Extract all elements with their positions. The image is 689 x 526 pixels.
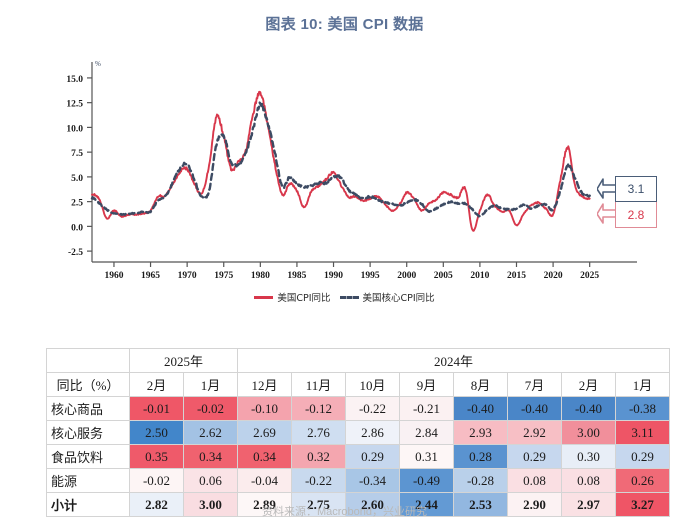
svg-text:1995: 1995 [361, 271, 380, 281]
svg-text:10.0: 10.0 [66, 124, 83, 134]
table-cell: 2.86 [346, 421, 400, 445]
table-cell: 0.34 [238, 445, 292, 469]
table-cell: -0.38 [616, 397, 670, 421]
table-cell: 3.00 [562, 421, 616, 445]
legend-line-dashed-icon [340, 296, 359, 299]
table-year-group-1: 2024年 [238, 349, 670, 373]
table-cell: 3.11 [616, 421, 670, 445]
table-cell: 2.93 [454, 421, 508, 445]
svg-text:1965: 1965 [141, 271, 160, 281]
svg-text:2020: 2020 [544, 271, 563, 281]
table-cell: 0.29 [616, 445, 670, 469]
table-head: 2025年2024年 同比（%） 2月1月12月11月10月9月8月7月2月1月 [47, 349, 670, 397]
chart-plot-area: %-2.50.02.55.07.510.012.515.019601965197… [0, 52, 689, 322]
svg-text:0.0: 0.0 [71, 223, 83, 233]
callout-tails-icon [597, 176, 617, 228]
table-corner-blank [47, 349, 130, 373]
svg-text:1980: 1980 [251, 271, 270, 281]
svg-text:1960: 1960 [104, 271, 123, 281]
svg-text:%: % [95, 60, 101, 68]
table-cell: -0.02 [130, 469, 184, 493]
svg-text:2010: 2010 [470, 271, 489, 281]
svg-text:1990: 1990 [324, 271, 343, 281]
table-cell: -0.49 [400, 469, 454, 493]
table-row-label: 核心商品 [47, 397, 130, 421]
table-cell: 2.62 [184, 421, 238, 445]
table-cell: 0.31 [400, 445, 454, 469]
svg-text:15.0: 15.0 [66, 75, 83, 85]
table-cell: 0.35 [130, 445, 184, 469]
table-year-header-row: 2025年2024年 [47, 349, 670, 373]
chart-callouts: 3.1 2.8 [597, 176, 657, 228]
table-month-header-row: 同比（%） 2月1月12月11月10月9月8月7月2月1月 [47, 373, 670, 397]
table-cell: 2.76 [292, 421, 346, 445]
table-corner-label: 同比（%） [47, 373, 130, 397]
table-cell: 0.26 [616, 469, 670, 493]
table-cell: 0.30 [562, 445, 616, 469]
legend-item-cpi: 美国CPI同比 [254, 290, 330, 304]
table-cell: -0.28 [454, 469, 508, 493]
table-cell: -0.02 [184, 397, 238, 421]
table-cell: -0.21 [400, 397, 454, 421]
callout-headline-cpi: 2.8 [615, 202, 657, 228]
table-month-header-0: 2月 [130, 373, 184, 397]
svg-text:7.5: 7.5 [71, 149, 83, 159]
page-title: 图表 10: 美国 CPI 数据 [0, 13, 689, 34]
legend-label-core-cpi: 美国核心CPI同比 [363, 290, 435, 304]
table-row-label: 核心服务 [47, 421, 130, 445]
svg-text:2000: 2000 [397, 271, 416, 281]
table-row-label: 能源 [47, 469, 130, 493]
cpi-breakdown-table: 2025年2024年 同比（%） 2月1月12月11月10月9月8月7月2月1月… [46, 348, 670, 517]
table-month-header-2: 12月 [238, 373, 292, 397]
table-month-header-8: 2月 [562, 373, 616, 397]
table-month-header-4: 10月 [346, 373, 400, 397]
svg-text:1975: 1975 [214, 271, 233, 281]
table-row: 食品饮料0.350.340.340.320.290.310.280.290.30… [47, 445, 670, 469]
table-cell: -0.22 [292, 469, 346, 493]
svg-text:2005: 2005 [434, 271, 453, 281]
svg-text:5.0: 5.0 [71, 174, 83, 184]
svg-text:2015: 2015 [507, 271, 526, 281]
table-cell: 0.28 [454, 445, 508, 469]
table-month-header-9: 1月 [616, 373, 670, 397]
table-month-header-7: 7月 [508, 373, 562, 397]
legend-label-cpi: 美国CPI同比 [277, 290, 330, 304]
chart-legend: 美国CPI同比 美国核心CPI同比 [0, 290, 689, 304]
svg-text:-2.5: -2.5 [68, 248, 83, 258]
callout-core-cpi: 3.1 [615, 176, 657, 202]
table-cell: -0.40 [454, 397, 508, 421]
table-row: 核心服务2.502.622.692.762.862.842.932.923.00… [47, 421, 670, 445]
table-cell: 0.06 [184, 469, 238, 493]
table-cell: -0.01 [130, 397, 184, 421]
table-cell: 2.92 [508, 421, 562, 445]
table-cell: -0.12 [292, 397, 346, 421]
table-month-header-5: 9月 [400, 373, 454, 397]
svg-text:2025: 2025 [580, 271, 599, 281]
series-core-cpi-line [92, 103, 590, 217]
table-cell: 0.34 [184, 445, 238, 469]
table-row-label: 食品饮料 [47, 445, 130, 469]
table-month-header-6: 8月 [454, 373, 508, 397]
table-cell: 2.69 [238, 421, 292, 445]
table-cell: 0.32 [292, 445, 346, 469]
svg-text:1985: 1985 [287, 271, 306, 281]
table-cell: 0.08 [562, 469, 616, 493]
table-cell: -0.04 [238, 469, 292, 493]
cpi-chart: %-2.50.02.55.07.510.012.515.019601965197… [0, 52, 689, 322]
svg-text:12.5: 12.5 [66, 100, 83, 110]
legend-item-core-cpi: 美国核心CPI同比 [340, 290, 435, 304]
table-cell: -0.10 [238, 397, 292, 421]
table-month-header-3: 11月 [292, 373, 346, 397]
table-cell: 0.08 [508, 469, 562, 493]
svg-text:1970: 1970 [178, 271, 197, 281]
table-body: 核心商品-0.01-0.02-0.10-0.12-0.22-0.21-0.40-… [47, 397, 670, 517]
svg-text:2.5: 2.5 [71, 199, 83, 209]
source-note: 资料来源：Macrobond，兴业研究 [0, 503, 689, 519]
table-cell: -0.22 [346, 397, 400, 421]
table-year-group-0: 2025年 [130, 349, 238, 373]
table-row: 能源-0.020.06-0.04-0.22-0.34-0.49-0.280.08… [47, 469, 670, 493]
table-month-header-1: 1月 [184, 373, 238, 397]
table-row: 核心商品-0.01-0.02-0.10-0.12-0.22-0.21-0.40-… [47, 397, 670, 421]
table-cell: 2.50 [130, 421, 184, 445]
legend-line-solid-icon [254, 296, 273, 299]
table-cell: 0.29 [508, 445, 562, 469]
table-cell: -0.40 [508, 397, 562, 421]
table-cell: -0.34 [346, 469, 400, 493]
table-cell: 2.84 [400, 421, 454, 445]
table-cell: -0.40 [562, 397, 616, 421]
table-cell: 0.29 [346, 445, 400, 469]
